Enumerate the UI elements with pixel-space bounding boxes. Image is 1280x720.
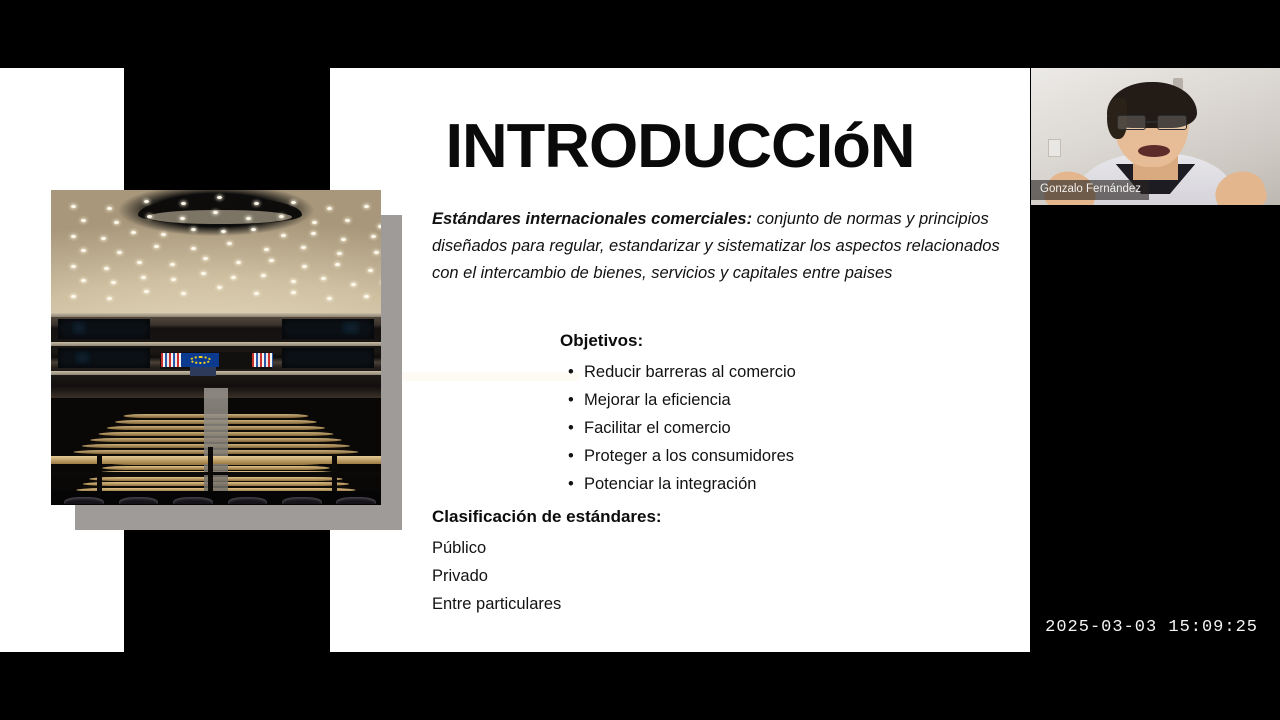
bullet-icon: • [568,358,584,386]
participant-webcam-tile[interactable]: Gonzalo Fernández [1031,68,1280,205]
objective-label: Facilitar el comercio [584,419,731,437]
webcam-person-glasses [1117,115,1187,130]
classification-heading: Clasificación de estándares: [432,507,662,527]
objective-label: Potenciar la integración [584,475,756,493]
bullet-icon: • [568,414,584,442]
objective-label: Reducir barreras al comercio [584,363,796,381]
classification-item: Privado [432,562,561,590]
participant-name-label: Gonzalo Fernández [1031,180,1149,200]
objectives-heading: Objetivos: [560,331,643,351]
bullet-icon: • [568,386,584,414]
webcam-wall-outlet [1048,139,1060,157]
screen-recording-frame: INTRODUCCIóN Estándares internacionales … [0,0,1280,720]
bullet-icon: • [568,442,584,470]
photo-flags-right [252,353,272,367]
objective-item: •Reducir barreras al comercio [568,358,796,386]
photo-eu-flag [181,353,219,367]
classification-item: Público [432,534,561,562]
objective-label: Proteger a los consumidores [584,447,794,465]
parliament-photo [51,190,381,505]
slide-title: INTRODUCCIóN [323,112,1037,182]
objectives-list: •Reducir barreras al comercio•Mejorar la… [568,358,796,498]
slide-definition-term: Estándares internacionales comerciales: [432,210,752,228]
objective-item: •Potenciar la integración [568,470,796,498]
objective-item: •Proteger a los consumidores [568,442,796,470]
photo-seating [51,388,381,505]
objective-label: Mejorar la eficiencia [584,391,731,409]
photo-podium [190,367,216,376]
recording-timestamp: 2025-03-03 15:09:25 [1045,618,1258,637]
classification-item: Entre particulares [432,590,561,618]
bullet-icon: • [568,470,584,498]
classification-list: PúblicoPrivadoEntre particulares [432,534,561,618]
slide-definition-paragraph: Estándares internacionales comerciales: … [432,206,1010,287]
photo-flags-left [161,353,181,367]
objective-item: •Facilitar el comercio [568,414,796,442]
photo-gallery-band [51,313,381,398]
objective-item: •Mejorar la eficiencia [568,386,796,414]
